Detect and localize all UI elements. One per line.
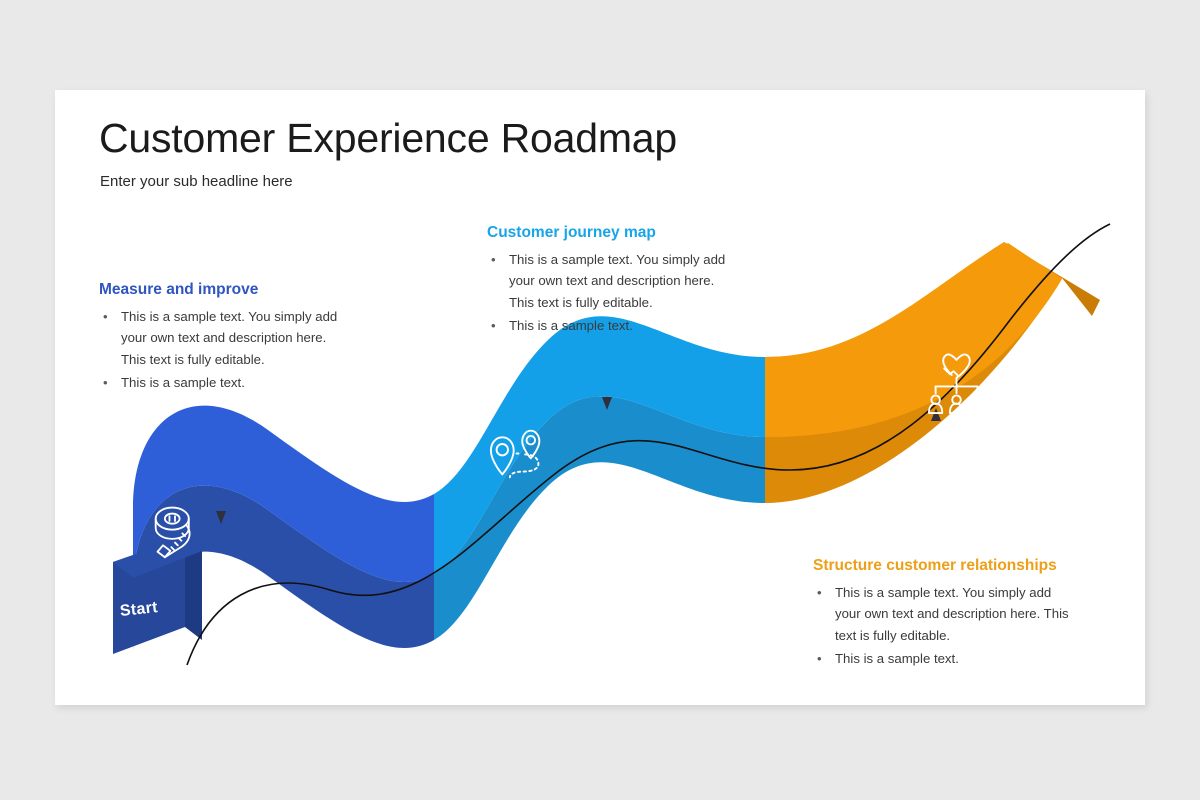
bullet-glyph: • (103, 372, 108, 394)
list-item-text: This is a sample text. You simply add yo… (121, 309, 337, 367)
segment-heading-structure: Structure customer relationships (813, 557, 1073, 576)
segment-bullets-structure: • This is a sample text. You simply add … (813, 582, 1073, 670)
start-end-cap (113, 537, 202, 654)
segment-block-journey: Customer journey map • This is a sample … (487, 224, 737, 339)
segment-bullets-measure: • This is a sample text. You simply add … (99, 306, 344, 394)
list-item-text: This is a sample text. (509, 318, 633, 333)
segment-block-structure: Structure customer relationships • This … (813, 557, 1073, 672)
list-item: • This is a sample text. (99, 372, 344, 394)
bullet-glyph: • (491, 249, 496, 271)
segment-heading-measure: Measure and improve (99, 281, 344, 300)
segment-block-measure: Measure and improve • This is a sample t… (99, 281, 344, 396)
bullet-glyph: • (103, 306, 108, 328)
segment-bullets-journey: • This is a sample text. You simply add … (487, 249, 737, 337)
bullet-glyph: • (817, 648, 822, 670)
list-item: • This is a sample text. (487, 315, 737, 337)
segment-heading-journey: Customer journey map (487, 224, 737, 243)
list-item-text: This is a sample text. You simply add yo… (509, 252, 725, 310)
list-item-text: This is a sample text. (121, 375, 245, 390)
bullet-glyph: • (817, 582, 822, 604)
list-item: • This is a sample text. You simply add … (99, 306, 344, 371)
bullet-glyph: • (491, 315, 496, 337)
list-item: • This is a sample text. You simply add … (813, 582, 1073, 647)
slide-stage: Customer Experience Roadmap Enter your s… (0, 0, 1200, 800)
list-item: • This is a sample text. (813, 648, 1073, 670)
list-item-text: This is a sample text. (835, 651, 959, 666)
roadmap-ribbon-graphic (0, 0, 1200, 800)
list-item-text: This is a sample text. You simply add yo… (835, 585, 1069, 643)
list-item: • This is a sample text. You simply add … (487, 249, 737, 314)
